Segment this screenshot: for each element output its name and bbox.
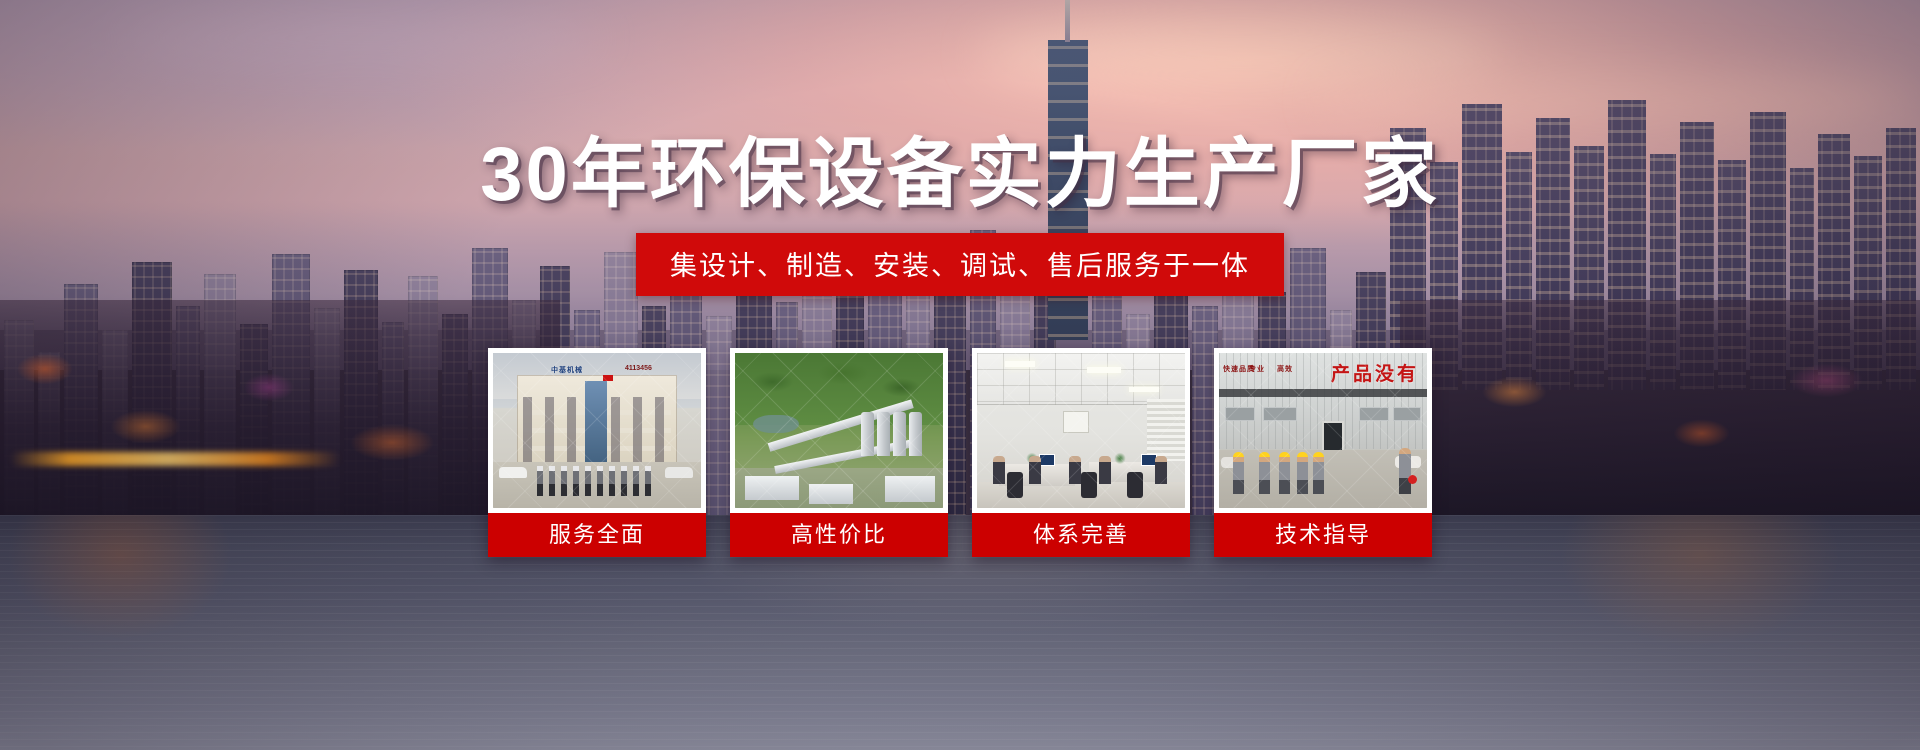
card-3-photo — [977, 353, 1185, 508]
banner-subtitle-ribbon: 集设计、制造、安装、调试、售后服务于一体 — [636, 233, 1284, 296]
card-4-caption: 技术指导 — [1214, 513, 1432, 557]
feature-card-row: 中基机械 4113456 服务全面 — [488, 348, 1432, 557]
card-1-caption: 服务全面 — [488, 513, 706, 557]
card-4-wall-banner: 产品没有 — [1331, 359, 1419, 386]
feature-card-1[interactable]: 中基机械 4113456 服务全面 — [488, 348, 706, 557]
flag-icon — [603, 375, 613, 381]
card-1-phone-number: 4113456 — [625, 365, 652, 372]
card-3-caption: 体系完善 — [972, 513, 1190, 557]
card-2-caption: 高性价比 — [730, 513, 948, 557]
banner-content: 30年环保设备实力生产厂家 集设计、制造、安装、调试、售后服务于一体 中基机械 … — [0, 0, 1920, 750]
card-4-photo: 产品没有 快速品质 专业 高效 — [1219, 353, 1427, 508]
card-2-photo — [735, 353, 943, 508]
card-4-slogan-1: 专业 — [1249, 365, 1265, 374]
card-1-company-sign: 中基机械 — [551, 365, 583, 375]
banner-headline: 30年环保设备实力生产厂家 — [0, 112, 1920, 222]
card-1-photo: 中基机械 4113456 — [493, 353, 701, 508]
feature-card-3[interactable]: 体系完善 — [972, 348, 1190, 557]
hero-banner: 30年环保设备实力生产厂家 集设计、制造、安装、调试、售后服务于一体 中基机械 … — [0, 0, 1920, 750]
card-4-slogan-2: 高效 — [1277, 365, 1293, 374]
feature-card-4[interactable]: 产品没有 快速品质 专业 高效 — [1214, 348, 1432, 557]
feature-card-2[interactable]: 高性价比 — [730, 348, 948, 557]
